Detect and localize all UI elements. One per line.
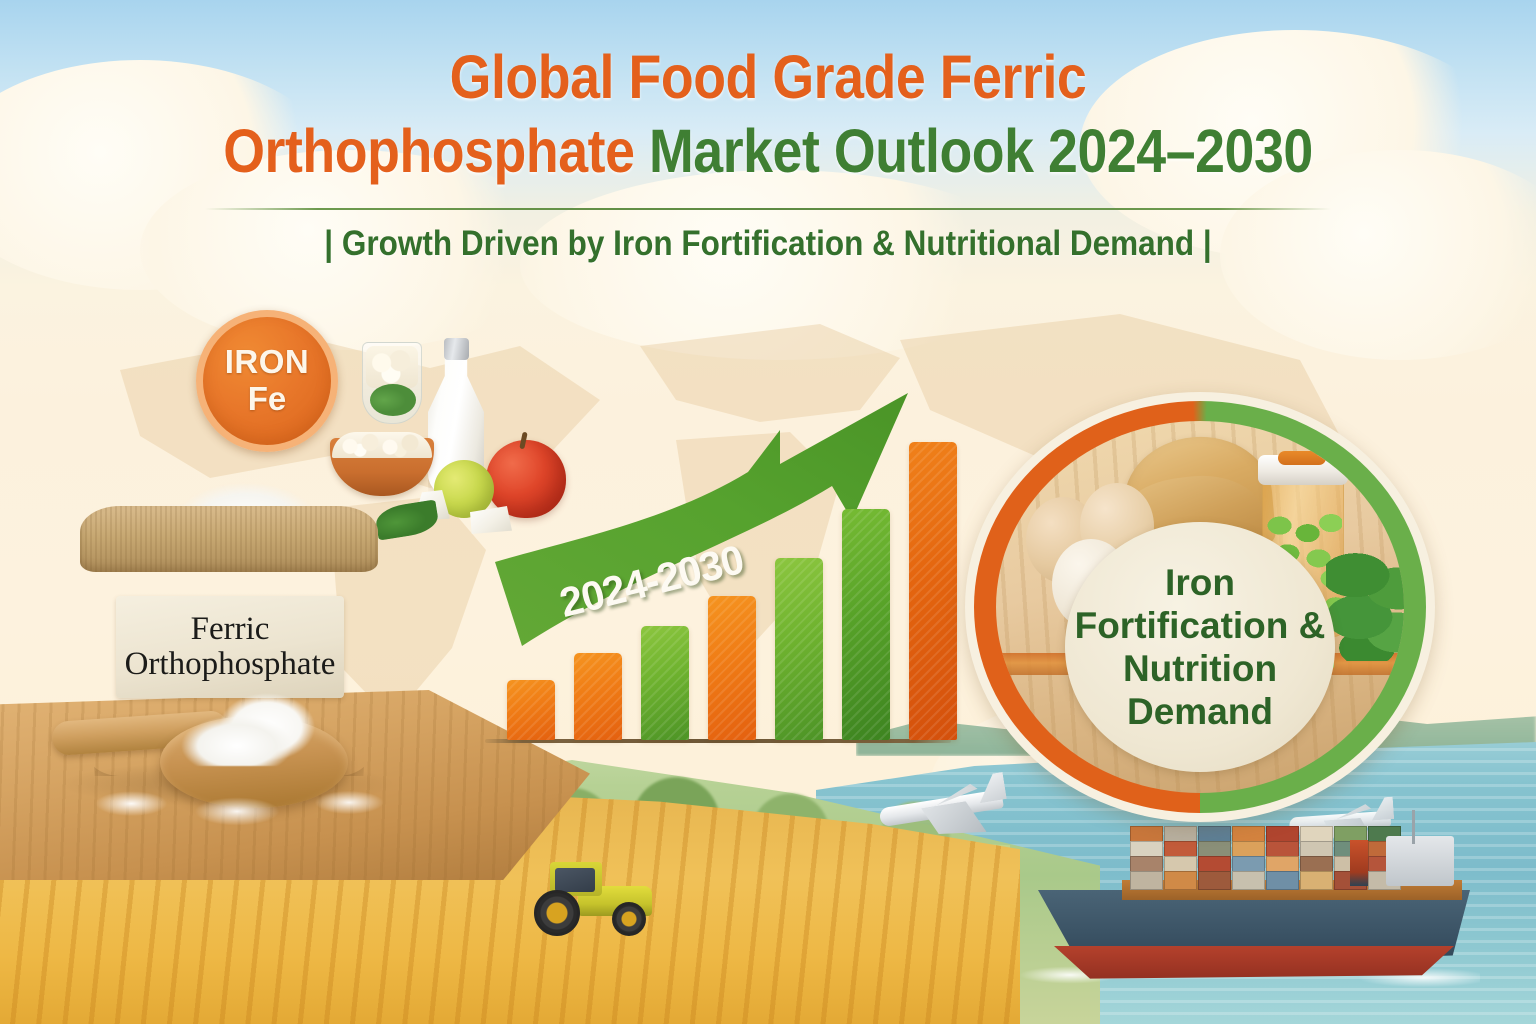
shipping-container bbox=[1232, 871, 1265, 890]
title-orange-line1: Global Food Grade Ferric bbox=[450, 43, 1087, 111]
ship-funnel bbox=[1350, 840, 1368, 886]
tractor-window bbox=[555, 868, 595, 892]
milk-bottle-cap bbox=[444, 338, 469, 360]
sack-label-line1: Ferric bbox=[191, 612, 270, 647]
shipping-container bbox=[1198, 871, 1231, 890]
sack-label-line2: Orthophosphate bbox=[125, 647, 336, 682]
sack-rim bbox=[80, 506, 378, 572]
spinach-leaves-icon bbox=[1326, 551, 1404, 661]
chart-bar bbox=[574, 653, 622, 740]
shipping-container bbox=[1130, 871, 1163, 890]
title-orange-line2: Orthophosphate bbox=[223, 117, 634, 185]
cereal-grains bbox=[332, 432, 432, 458]
container-ship-illustration bbox=[1014, 806, 1480, 1006]
spilled-powder bbox=[72, 770, 402, 826]
green-leaves-icon bbox=[370, 384, 416, 416]
title-divider bbox=[205, 208, 1331, 210]
iron-badge-symbol: Fe bbox=[248, 380, 287, 418]
chart-bar bbox=[775, 558, 823, 740]
basil-leaf-icon bbox=[374, 499, 440, 540]
shipping-container bbox=[1164, 871, 1197, 890]
tractor-rear-wheel bbox=[534, 890, 580, 936]
chart-bar bbox=[641, 626, 689, 740]
chart-bar bbox=[708, 596, 756, 740]
ship-bridge bbox=[1386, 836, 1454, 886]
chart-bar bbox=[507, 680, 555, 740]
chart-bar bbox=[842, 509, 890, 740]
cloud-decoration bbox=[520, 170, 1040, 360]
growth-bar-chart: 2024-2030 bbox=[480, 380, 960, 760]
page-title: Global Food Grade Ferric Orthophosphate … bbox=[92, 40, 1444, 188]
title-green-line2: Market Outlook 2024–2030 bbox=[649, 117, 1313, 185]
tractor-front-wheel bbox=[612, 902, 646, 936]
chart-bar bbox=[909, 442, 957, 740]
infographic-poster: Global Food Grade Ferric Orthophosphate … bbox=[0, 0, 1536, 1024]
iron-badge-label: IRON bbox=[225, 344, 310, 380]
tractor-illustration bbox=[530, 860, 660, 936]
glass-dish-contents bbox=[366, 346, 418, 388]
powder-on-spoon bbox=[174, 688, 324, 766]
page-subtitle: | Growth Driven by Iron Fortification & … bbox=[77, 224, 1459, 264]
shipping-container bbox=[1266, 871, 1299, 890]
sack-product-label: Ferric Orthophosphate bbox=[116, 596, 344, 698]
badge-center-label: Iron Fortification & Nutrition Demand bbox=[1065, 522, 1335, 772]
shipping-container bbox=[1300, 871, 1333, 890]
ship-waterline bbox=[1054, 946, 1454, 980]
bottle-cap-top bbox=[1278, 451, 1326, 465]
iron-fe-badge: IRON Fe bbox=[196, 310, 338, 452]
iron-fortification-badge: Iron Fortification & Nutrition Demand bbox=[965, 392, 1435, 822]
